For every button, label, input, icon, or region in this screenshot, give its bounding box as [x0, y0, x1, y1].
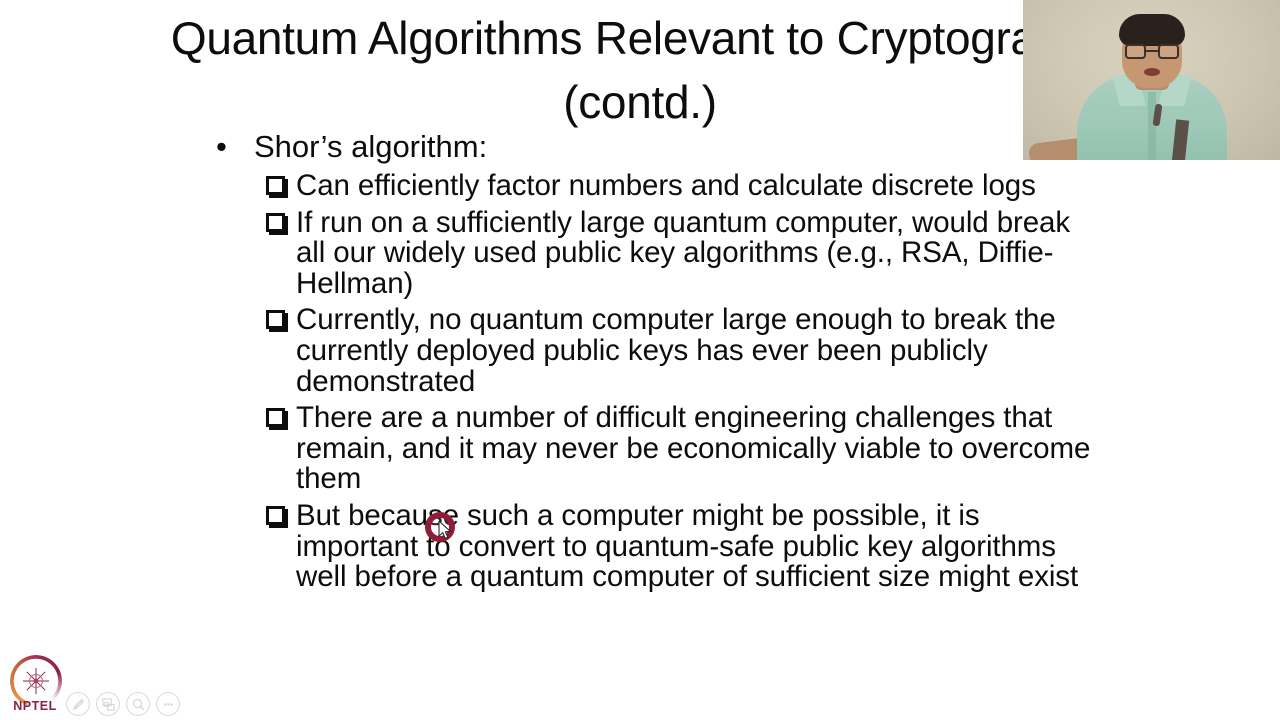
hollow-square-icon: [266, 310, 285, 329]
bullet-level2: But because such a computer might be pos…: [0, 501, 1280, 593]
slide-body: • Shor’s algorithm: Can efficiently fact…: [0, 126, 1280, 599]
hollow-square-icon: [266, 213, 285, 232]
hollow-square-icon: [266, 408, 285, 427]
slide-toolbar: [66, 692, 180, 716]
bullet-level1-label: Shor’s algorithm:: [254, 129, 487, 164]
bullet-dot-icon: •: [216, 126, 227, 167]
presenter-mouth: [1144, 68, 1160, 76]
nptel-logo: NPTEL: [4, 655, 66, 717]
hollow-square-icon: [266, 506, 285, 525]
pen-icon[interactable]: [66, 692, 90, 716]
page-title: Quantum Algorithms Relevant to Cryptogra…: [150, 6, 1130, 134]
slides-icon[interactable]: [96, 692, 120, 716]
bullet-level2-text: There are a number of difficult engineer…: [296, 403, 1130, 495]
bullet-level2: If run on a sufficiently large quantum c…: [0, 208, 1280, 300]
hollow-square-icon: [266, 176, 285, 195]
presenter-video[interactable]: [1023, 0, 1280, 160]
bullet-level2: Currently, no quantum computer large eno…: [0, 305, 1280, 397]
more-icon[interactable]: [156, 692, 180, 716]
bullet-level2-text: Can efficiently factor numbers and calcu…: [296, 171, 1100, 202]
search-icon[interactable]: [126, 692, 150, 716]
nptel-wordmark: NPTEL: [4, 699, 66, 713]
bullet-level2: There are a number of difficult engineer…: [0, 403, 1280, 495]
presenter-shirt-placket: [1148, 92, 1156, 160]
bullet-level2-text: Currently, no quantum computer large eno…: [296, 305, 1100, 397]
bullet-level2: Can efficiently factor numbers and calcu…: [0, 171, 1280, 202]
bullet-level2-text: If run on a sufficiently large quantum c…: [296, 208, 1100, 300]
bullet-level2-text: But because such a computer might be pos…: [296, 501, 1100, 593]
glasses-icon: [1125, 44, 1179, 59]
atom-icon: [22, 667, 50, 695]
presenter-hair: [1119, 14, 1185, 46]
